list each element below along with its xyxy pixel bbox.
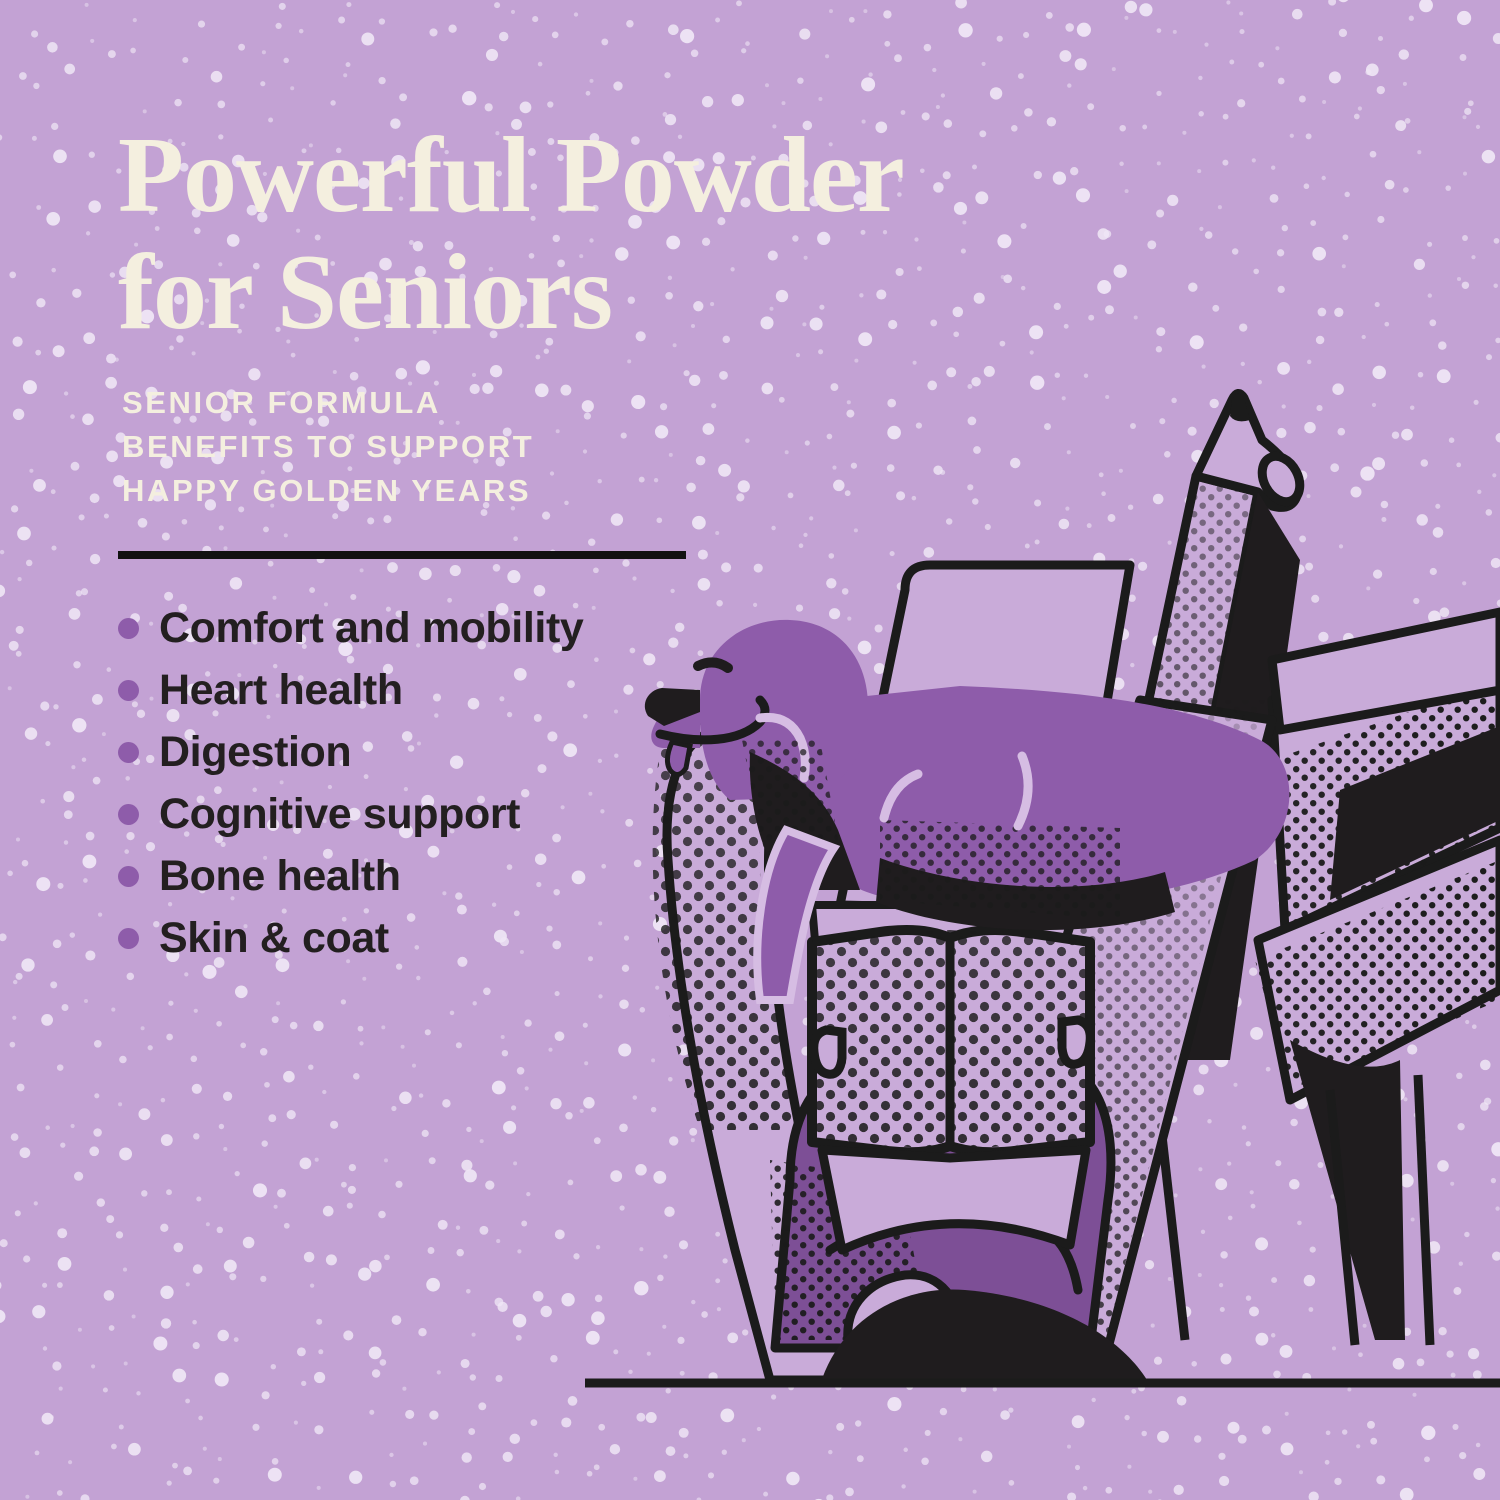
benefit-label: Skin & coat [159,917,389,960]
bullet-dot-icon [118,866,139,887]
left-hand [814,1030,842,1074]
list-item: Heart health [118,669,1108,712]
bullet-dot-icon [118,804,139,825]
list-item: Digestion [118,731,1108,774]
bullet-dot-icon [118,618,139,639]
promo-graphic: Powerful Powder for Seniors SENIOR FORMU… [0,0,1500,1500]
benefit-label: Bone health [159,855,401,898]
bullet-dot-icon [118,680,139,701]
bullet-dot-icon [118,742,139,763]
chair-leg-far-right-2 [1418,1075,1430,1345]
benefit-label: Heart health [159,669,403,712]
benefit-label: Cognitive support [159,793,520,836]
benefit-label: Digestion [159,731,351,774]
page-title: Powerful Powder for Seniors [118,118,1108,351]
list-item: Cognitive support [118,793,1108,836]
subtitle: SENIOR FORMULA BENEFITS TO SUPPORT HAPPY… [122,381,1108,513]
divider-rule [118,551,686,559]
list-item: Bone health [118,855,1108,898]
list-item: Skin & coat [118,917,1108,960]
text-column: Powerful Powder for Seniors SENIOR FORMU… [118,118,1108,979]
list-item: Comfort and mobility [118,607,1108,650]
bullet-dot-icon [118,928,139,949]
benefit-label: Comfort and mobility [159,607,583,650]
right-hand [1062,1020,1090,1064]
benefits-list: Comfort and mobility Heart health Digest… [118,607,1108,960]
